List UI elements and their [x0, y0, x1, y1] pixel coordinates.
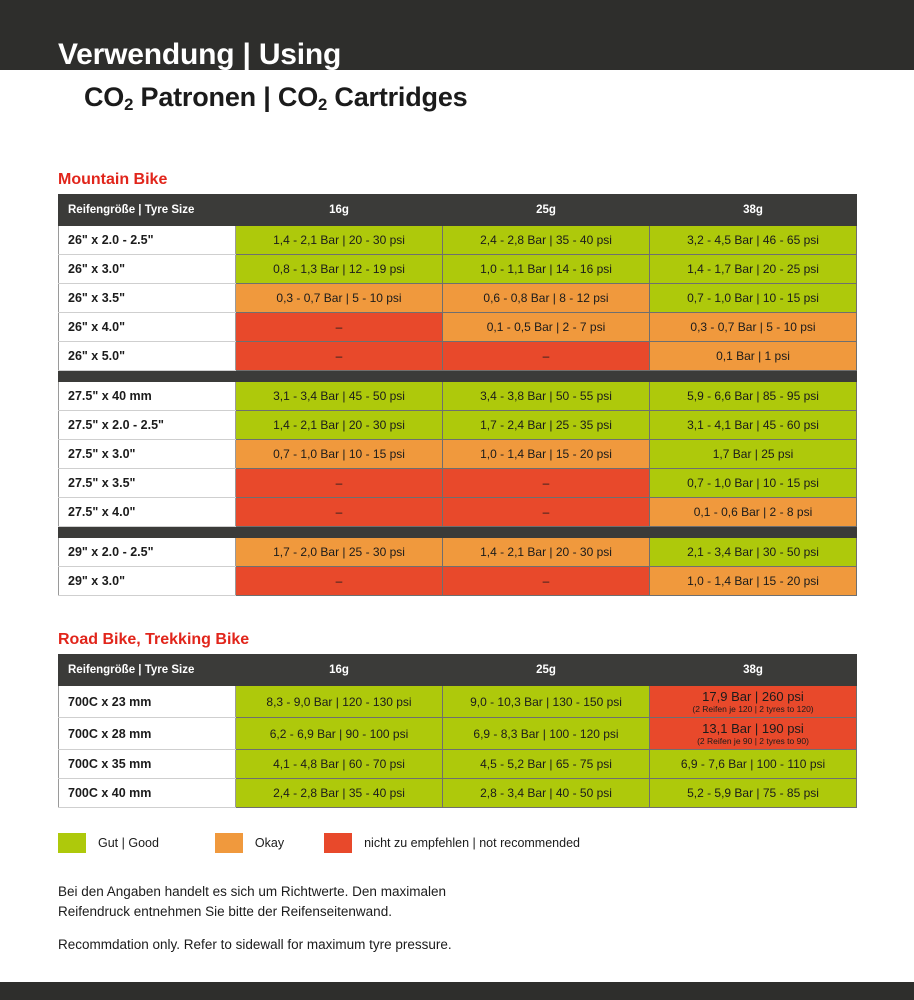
- column-header-16g: 16g: [236, 195, 443, 226]
- column-header-tyre-size: Reifengröße | Tyre Size: [59, 195, 236, 226]
- pressure-value: 1,4 - 2,1 Bar | 20 - 30 psi: [236, 418, 442, 432]
- pressure-cell: 5,2 - 5,9 Bar | 75 - 85 psi: [650, 779, 857, 808]
- pressure-cell: 3,2 - 4,5 Bar | 46 - 65 psi: [650, 226, 857, 255]
- pressure-cell: 1,7 - 2,0 Bar | 25 - 30 psi: [236, 538, 443, 567]
- pressure-value: 1,4 - 1,7 Bar | 20 - 25 psi: [650, 262, 856, 276]
- pressure-cell: –: [443, 469, 650, 498]
- pressure-value: 6,2 - 6,9 Bar | 90 - 100 psi: [236, 727, 442, 741]
- row-label: 700C x 40 mm: [59, 779, 236, 808]
- subtitle-part-3: Cartridges: [327, 82, 467, 112]
- pressure-value: 3,2 - 4,5 Bar | 46 - 65 psi: [650, 233, 856, 247]
- pressure-value: 5,9 - 6,6 Bar | 85 - 95 psi: [650, 389, 856, 403]
- pressure-value: 3,1 - 3,4 Bar | 45 - 50 psi: [236, 389, 442, 403]
- pressure-value: 0,7 - 1,0 Bar | 10 - 15 psi: [650, 291, 856, 305]
- page-title: Verwendung | Using: [58, 38, 341, 70]
- pressure-value: –: [443, 476, 649, 490]
- mountain-bike-table: Reifengröße | Tyre Size 16g 25g 38g 26" …: [58, 194, 857, 596]
- pressure-value: 0,3 - 0,7 Bar | 5 - 10 psi: [650, 320, 856, 334]
- pressure-cell: 1,4 - 2,1 Bar | 20 - 30 psi: [236, 226, 443, 255]
- pressure-value: 2,4 - 2,8 Bar | 35 - 40 psi: [443, 233, 649, 247]
- column-header-25g: 25g: [443, 655, 650, 686]
- pressure-value: 6,9 - 7,6 Bar | 100 - 110 psi: [650, 757, 856, 771]
- pressure-cell: 2,8 - 3,4 Bar | 40 - 50 psi: [443, 779, 650, 808]
- pressure-cell: 1,7 - 2,4 Bar | 25 - 35 psi: [443, 411, 650, 440]
- pressure-cell: 3,1 - 3,4 Bar | 45 - 50 psi: [236, 382, 443, 411]
- table-row: 26" x 3.5"0,3 - 0,7 Bar | 5 - 10 psi0,6 …: [59, 284, 857, 313]
- pressure-value: –: [236, 476, 442, 490]
- pressure-value: 0,6 - 0,8 Bar | 8 - 12 psi: [443, 291, 649, 305]
- row-label: 700C x 23 mm: [59, 686, 236, 718]
- mtb-table-body: 26" x 2.0 - 2.5"1,4 - 2,1 Bar | 20 - 30 …: [59, 226, 857, 596]
- pressure-value: 4,1 - 4,8 Bar | 60 - 70 psi: [236, 757, 442, 771]
- row-label: 29" x 3.0": [59, 567, 236, 596]
- pressure-value: 3,4 - 3,8 Bar | 50 - 55 psi: [443, 389, 649, 403]
- pressure-cell: 1,4 - 2,1 Bar | 20 - 30 psi: [443, 538, 650, 567]
- pressure-value: –: [443, 349, 649, 363]
- road-table-body: 700C x 23 mm8,3 - 9,0 Bar | 120 - 130 ps…: [59, 686, 857, 808]
- legend-item-good: Gut | Good: [58, 833, 159, 853]
- row-label: 27.5" x 2.0 - 2.5": [59, 411, 236, 440]
- pressure-value: 2,4 - 2,8 Bar | 35 - 40 psi: [236, 786, 442, 800]
- legend-label: nicht zu empfehlen | not recommended: [364, 836, 580, 850]
- pressure-cell: 0,1 - 0,5 Bar | 2 - 7 psi: [443, 313, 650, 342]
- top-dark-band: Verwendung | Using: [0, 0, 914, 70]
- table-row: 27.5" x 3.0"0,7 - 1,0 Bar | 10 - 15 psi1…: [59, 440, 857, 469]
- group-separator: [59, 527, 857, 538]
- pressure-cell: 6,9 - 8,3 Bar | 100 - 120 psi: [443, 718, 650, 750]
- pressure-value: 2,1 - 3,4 Bar | 30 - 50 psi: [650, 545, 856, 559]
- pressure-cell: 2,4 - 2,8 Bar | 35 - 40 psi: [443, 226, 650, 255]
- pressure-cell: –: [236, 469, 443, 498]
- pressure-value: 6,9 - 8,3 Bar | 100 - 120 psi: [443, 727, 649, 741]
- pressure-cell: 4,1 - 4,8 Bar | 60 - 70 psi: [236, 750, 443, 779]
- column-header-25g: 25g: [443, 195, 650, 226]
- pressure-value: 0,1 - 0,5 Bar | 2 - 7 psi: [443, 320, 649, 334]
- pressure-value: 17,9 Bar | 260 psi: [650, 689, 856, 704]
- pressure-value: –: [443, 574, 649, 588]
- pressure-cell: –: [236, 567, 443, 596]
- pressure-cell: 0,1 - 0,6 Bar | 2 - 8 psi: [650, 498, 857, 527]
- pressure-value: –: [236, 320, 442, 334]
- pressure-cell: –: [443, 342, 650, 371]
- legend-item-okay: Okay: [215, 833, 284, 853]
- row-label: 27.5" x 3.0": [59, 440, 236, 469]
- row-label: 27.5" x 4.0": [59, 498, 236, 527]
- pressure-cell: 0,6 - 0,8 Bar | 8 - 12 psi: [443, 284, 650, 313]
- column-header-tyre-size: Reifengröße | Tyre Size: [59, 655, 236, 686]
- pressure-cell: 1,4 - 2,1 Bar | 20 - 30 psi: [236, 411, 443, 440]
- row-label: 27.5" x 40 mm: [59, 382, 236, 411]
- column-header-16g: 16g: [236, 655, 443, 686]
- pressure-value: 9,0 - 10,3 Bar | 130 - 150 psi: [443, 695, 649, 709]
- pressure-value: 1,7 - 2,4 Bar | 25 - 35 psi: [443, 418, 649, 432]
- legend-item-bad: nicht zu empfehlen | not recommended: [324, 833, 580, 853]
- pressure-cell: 1,7 Bar | 25 psi: [650, 440, 857, 469]
- pressure-cell: 13,1 Bar | 190 psi(2 Reifen je 90 | 2 ty…: [650, 718, 857, 750]
- pressure-value: –: [236, 574, 442, 588]
- pressure-value: 1,0 - 1,4 Bar | 15 - 20 psi: [650, 574, 856, 588]
- pressure-value: 3,1 - 4,1 Bar | 45 - 60 psi: [650, 418, 856, 432]
- subtitle-part-1: CO: [84, 82, 124, 112]
- table-row: 700C x 35 mm4,1 - 4,8 Bar | 60 - 70 psi4…: [59, 750, 857, 779]
- road-table-head: Reifengröße | Tyre Size 16g 25g 38g: [59, 655, 857, 686]
- pressure-value: 2,8 - 3,4 Bar | 40 - 50 psi: [443, 786, 649, 800]
- pressure-cell: 17,9 Bar | 260 psi(2 Reifen je 120 | 2 t…: [650, 686, 857, 718]
- row-label: 700C x 35 mm: [59, 750, 236, 779]
- table-row: 700C x 23 mm8,3 - 9,0 Bar | 120 - 130 ps…: [59, 686, 857, 718]
- mountain-bike-heading: Mountain Bike: [58, 171, 167, 189]
- table-row: 26" x 3.0"0,8 - 1,3 Bar | 12 - 19 psi1,0…: [59, 255, 857, 284]
- table-row: 29" x 2.0 - 2.5"1,7 - 2,0 Bar | 25 - 30 …: [59, 538, 857, 567]
- road-header-row: Reifengröße | Tyre Size 16g 25g 38g: [59, 655, 857, 686]
- pressure-cell: –: [443, 567, 650, 596]
- row-label: 29" x 2.0 - 2.5": [59, 538, 236, 567]
- pressure-note: (2 Reifen je 120 | 2 tyres to 120): [650, 704, 856, 714]
- table-row: 27.5" x 2.0 - 2.5"1,4 - 2,1 Bar | 20 - 3…: [59, 411, 857, 440]
- table-row: 27.5" x 3.5"––0,7 - 1,0 Bar | 10 - 15 ps…: [59, 469, 857, 498]
- legend-swatch-good-icon: [58, 833, 86, 853]
- pressure-value: 4,5 - 5,2 Bar | 65 - 75 psi: [443, 757, 649, 771]
- column-header-38g: 38g: [650, 195, 857, 226]
- table-row: 700C x 28 mm6,2 - 6,9 Bar | 90 - 100 psi…: [59, 718, 857, 750]
- pressure-cell: 0,7 - 1,0 Bar | 10 - 15 psi: [650, 284, 857, 313]
- group-separator-cell: [59, 527, 857, 538]
- legend-swatch-bad-icon: [324, 833, 352, 853]
- pressure-cell: 1,0 - 1,1 Bar | 14 - 16 psi: [443, 255, 650, 284]
- page-subtitle: CO2 Patronen | CO2 Cartridges: [84, 82, 467, 113]
- pressure-value: 1,7 Bar | 25 psi: [650, 447, 856, 461]
- row-label: 26" x 5.0": [59, 342, 236, 371]
- pressure-cell: 3,4 - 3,8 Bar | 50 - 55 psi: [443, 382, 650, 411]
- row-label: 700C x 28 mm: [59, 718, 236, 750]
- mtb-header-row: Reifengröße | Tyre Size 16g 25g 38g: [59, 195, 857, 226]
- pressure-cell: 6,2 - 6,9 Bar | 90 - 100 psi: [236, 718, 443, 750]
- note-german: Bei den Angaben handelt es sich um Richt…: [58, 882, 446, 922]
- pressure-cell: 5,9 - 6,6 Bar | 85 - 95 psi: [650, 382, 857, 411]
- pressure-value: 8,3 - 9,0 Bar | 120 - 130 psi: [236, 695, 442, 709]
- legend-label: Okay: [255, 836, 284, 850]
- pressure-cell: 3,1 - 4,1 Bar | 45 - 60 psi: [650, 411, 857, 440]
- pressure-cell: 0,7 - 1,0 Bar | 10 - 15 psi: [236, 440, 443, 469]
- legend-label: Gut | Good: [98, 836, 159, 850]
- pressure-value: 1,0 - 1,4 Bar | 15 - 20 psi: [443, 447, 649, 461]
- subtitle-part-2: Patronen | CO: [133, 82, 318, 112]
- table-row: 26" x 4.0"–0,1 - 0,5 Bar | 2 - 7 psi0,3 …: [59, 313, 857, 342]
- legend-swatch-okay-icon: [215, 833, 243, 853]
- pressure-cell: 0,1 Bar | 1 psi: [650, 342, 857, 371]
- pressure-note: (2 Reifen je 90 | 2 tyres to 90): [650, 736, 856, 746]
- pressure-cell: 6,9 - 7,6 Bar | 100 - 110 psi: [650, 750, 857, 779]
- road-bike-heading: Road Bike, Trekking Bike: [58, 631, 249, 649]
- pressure-value: 0,7 - 1,0 Bar | 10 - 15 psi: [236, 447, 442, 461]
- pressure-value: –: [236, 349, 442, 363]
- row-label: 27.5" x 3.5": [59, 469, 236, 498]
- pressure-cell: 4,5 - 5,2 Bar | 65 - 75 psi: [443, 750, 650, 779]
- mtb-table-head: Reifengröße | Tyre Size 16g 25g 38g: [59, 195, 857, 226]
- bottom-dark-band: [0, 982, 914, 1000]
- pressure-value: 13,1 Bar | 190 psi: [650, 721, 856, 736]
- subtitle-sub-2: 2: [318, 95, 327, 114]
- pressure-cell: –: [236, 313, 443, 342]
- pressure-value: –: [443, 505, 649, 519]
- group-separator: [59, 371, 857, 382]
- pressure-value: 0,8 - 1,3 Bar | 12 - 19 psi: [236, 262, 442, 276]
- pressure-value: 1,0 - 1,1 Bar | 14 - 16 psi: [443, 262, 649, 276]
- row-label: 26" x 4.0": [59, 313, 236, 342]
- table-row: 27.5" x 4.0"––0,1 - 0,6 Bar | 2 - 8 psi: [59, 498, 857, 527]
- table-row: 27.5" x 40 mm3,1 - 3,4 Bar | 45 - 50 psi…: [59, 382, 857, 411]
- pressure-cell: –: [236, 342, 443, 371]
- pressure-cell: 8,3 - 9,0 Bar | 120 - 130 psi: [236, 686, 443, 718]
- table-row: 700C x 40 mm2,4 - 2,8 Bar | 35 - 40 psi2…: [59, 779, 857, 808]
- road-bike-table: Reifengröße | Tyre Size 16g 25g 38g 700C…: [58, 654, 857, 808]
- pressure-cell: 1,4 - 1,7 Bar | 20 - 25 psi: [650, 255, 857, 284]
- table-row: 26" x 5.0"––0,1 Bar | 1 psi: [59, 342, 857, 371]
- pressure-cell: 0,8 - 1,3 Bar | 12 - 19 psi: [236, 255, 443, 284]
- subtitle-sub-1: 2: [124, 95, 133, 114]
- pressure-cell: 9,0 - 10,3 Bar | 130 - 150 psi: [443, 686, 650, 718]
- row-label: 26" x 3.5": [59, 284, 236, 313]
- color-legend: Gut | GoodOkaynicht zu empfehlen | not r…: [58, 833, 580, 853]
- pressure-value: 0,1 Bar | 1 psi: [650, 349, 856, 363]
- table-row: 29" x 3.0"––1,0 - 1,4 Bar | 15 - 20 psi: [59, 567, 857, 596]
- pressure-value: 0,3 - 0,7 Bar | 5 - 10 psi: [236, 291, 442, 305]
- note-english: Recommdation only. Refer to sidewall for…: [58, 935, 452, 955]
- pressure-value: 5,2 - 5,9 Bar | 75 - 85 psi: [650, 786, 856, 800]
- pressure-cell: 1,0 - 1,4 Bar | 15 - 20 psi: [443, 440, 650, 469]
- pressure-cell: 2,4 - 2,8 Bar | 35 - 40 psi: [236, 779, 443, 808]
- pressure-cell: –: [443, 498, 650, 527]
- pressure-value: 1,7 - 2,0 Bar | 25 - 30 psi: [236, 545, 442, 559]
- group-separator-cell: [59, 371, 857, 382]
- pressure-cell: 2,1 - 3,4 Bar | 30 - 50 psi: [650, 538, 857, 567]
- pressure-cell: –: [236, 498, 443, 527]
- pressure-value: 1,4 - 2,1 Bar | 20 - 30 psi: [443, 545, 649, 559]
- column-header-38g: 38g: [650, 655, 857, 686]
- pressure-cell: 1,0 - 1,4 Bar | 15 - 20 psi: [650, 567, 857, 596]
- pressure-cell: 0,3 - 0,7 Bar | 5 - 10 psi: [650, 313, 857, 342]
- pressure-value: –: [236, 505, 442, 519]
- pressure-cell: 0,3 - 0,7 Bar | 5 - 10 psi: [236, 284, 443, 313]
- pressure-value: 0,1 - 0,6 Bar | 2 - 8 psi: [650, 505, 856, 519]
- pressure-cell: 0,7 - 1,0 Bar | 10 - 15 psi: [650, 469, 857, 498]
- row-label: 26" x 2.0 - 2.5": [59, 226, 236, 255]
- pressure-value: 0,7 - 1,0 Bar | 10 - 15 psi: [650, 476, 856, 490]
- table-row: 26" x 2.0 - 2.5"1,4 - 2,1 Bar | 20 - 30 …: [59, 226, 857, 255]
- row-label: 26" x 3.0": [59, 255, 236, 284]
- pressure-value: 1,4 - 2,1 Bar | 20 - 30 psi: [236, 233, 442, 247]
